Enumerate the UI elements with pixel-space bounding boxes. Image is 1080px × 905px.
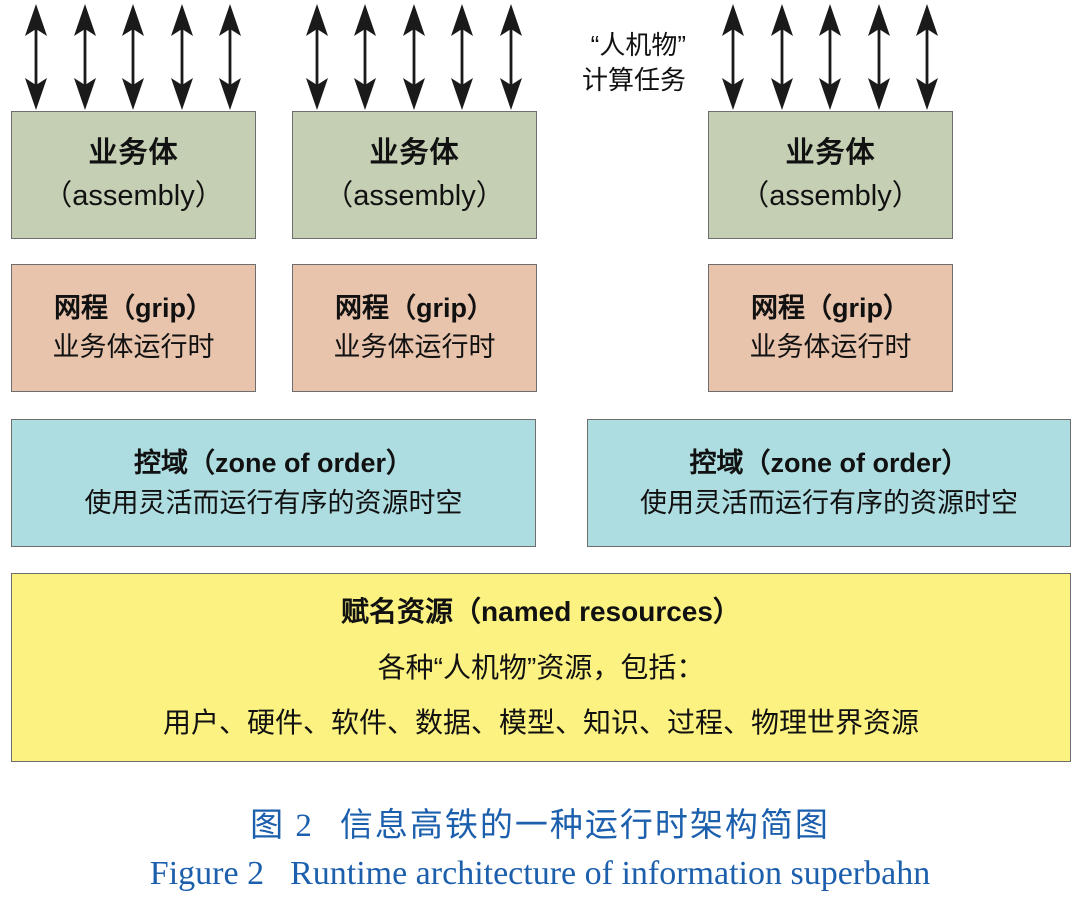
grip-box-1[interactable]: 网程（grip） 业务体运行时 — [11, 264, 256, 392]
zone-subtitle: 使用灵活而运行有序的资源时空 — [85, 487, 463, 520]
double-headed-vertical-arrow-icon — [120, 4, 146, 110]
grip-box-3[interactable]: 网程（grip） 业务体运行时 — [708, 264, 953, 392]
named-resources-box[interactable]: 赋名资源（named resources） 各种“人机物”资源，包括： 用户、硬… — [11, 573, 1071, 762]
assembly-subtitle: （assembly） — [740, 179, 921, 214]
figure-canvas: “人机物” 计算任务 业务体 （assembly） 业务体 （assembly）… — [0, 0, 1080, 905]
resources-title: 赋名资源（named resources） — [341, 595, 741, 629]
zone-title: 控域（zone of order） — [689, 447, 968, 480]
assembly-title: 业务体 — [88, 136, 178, 171]
double-headed-vertical-arrow-icon — [23, 4, 49, 110]
double-headed-vertical-arrow-icon — [352, 4, 378, 110]
grip-subtitle: 业务体运行时 — [750, 331, 912, 364]
zone-title: 控域（zone of order） — [134, 447, 413, 480]
assembly-subtitle: （assembly） — [43, 179, 224, 214]
grip-title: 网程（grip） — [751, 292, 910, 325]
caption-en-text: Runtime architecture of information supe… — [290, 855, 930, 892]
assembly-box-1[interactable]: 业务体 （assembly） — [11, 111, 256, 239]
assembly-box-2[interactable]: 业务体 （assembly） — [292, 111, 537, 239]
double-headed-vertical-arrow-icon — [401, 4, 427, 110]
grip-title: 网程（grip） — [335, 292, 494, 325]
zone-of-order-box-left[interactable]: 控域（zone of order） 使用灵活而运行有序的资源时空 — [11, 419, 536, 547]
caption-cn-text: 信息高铁的一种运行时架构简图 — [340, 808, 830, 844]
grip-subtitle: 业务体运行时 — [53, 331, 215, 364]
double-headed-vertical-arrow-icon — [720, 4, 746, 110]
grip-subtitle: 业务体运行时 — [334, 331, 496, 364]
zone-subtitle: 使用灵活而运行有序的资源时空 — [640, 487, 1018, 520]
double-headed-vertical-arrow-icon — [498, 4, 524, 110]
annotation-line-2: 计算任务 — [540, 63, 686, 98]
resources-line-2: 各种“人机物”资源，包括： — [378, 651, 705, 685]
annotation-line-1: “人机物” — [540, 28, 686, 63]
grip-title: 网程（grip） — [54, 292, 213, 325]
assembly-subtitle: （assembly） — [324, 179, 505, 214]
figure-caption-english: Figure 2Runtime architecture of informat… — [0, 855, 1080, 893]
double-headed-vertical-arrow-icon — [817, 4, 843, 110]
figure-caption-chinese: 图 2信息高铁的一种运行时架构简图 — [0, 798, 1080, 846]
zone-of-order-box-right[interactable]: 控域（zone of order） 使用灵活而运行有序的资源时空 — [587, 419, 1071, 547]
double-headed-vertical-arrow-icon — [449, 4, 475, 110]
assembly-title: 业务体 — [369, 136, 459, 171]
caption-en-label: Figure 2 — [150, 855, 264, 892]
double-headed-vertical-arrow-icon — [217, 4, 243, 110]
double-headed-vertical-arrow-icon — [769, 4, 795, 110]
caption-cn-label: 图 2 — [250, 808, 314, 844]
computing-task-annotation: “人机物” 计算任务 — [540, 28, 686, 98]
assembly-box-3[interactable]: 业务体 （assembly） — [708, 111, 953, 239]
resources-line-3: 用户、硬件、软件、数据、模型、知识、过程、物理世界资源 — [163, 706, 919, 740]
double-headed-vertical-arrow-icon — [169, 4, 195, 110]
double-headed-vertical-arrow-icon — [304, 4, 330, 110]
double-headed-vertical-arrow-icon — [914, 4, 940, 110]
grip-box-2[interactable]: 网程（grip） 业务体运行时 — [292, 264, 537, 392]
assembly-title: 业务体 — [785, 136, 875, 171]
double-headed-vertical-arrow-icon — [866, 4, 892, 110]
double-headed-vertical-arrow-icon — [72, 4, 98, 110]
